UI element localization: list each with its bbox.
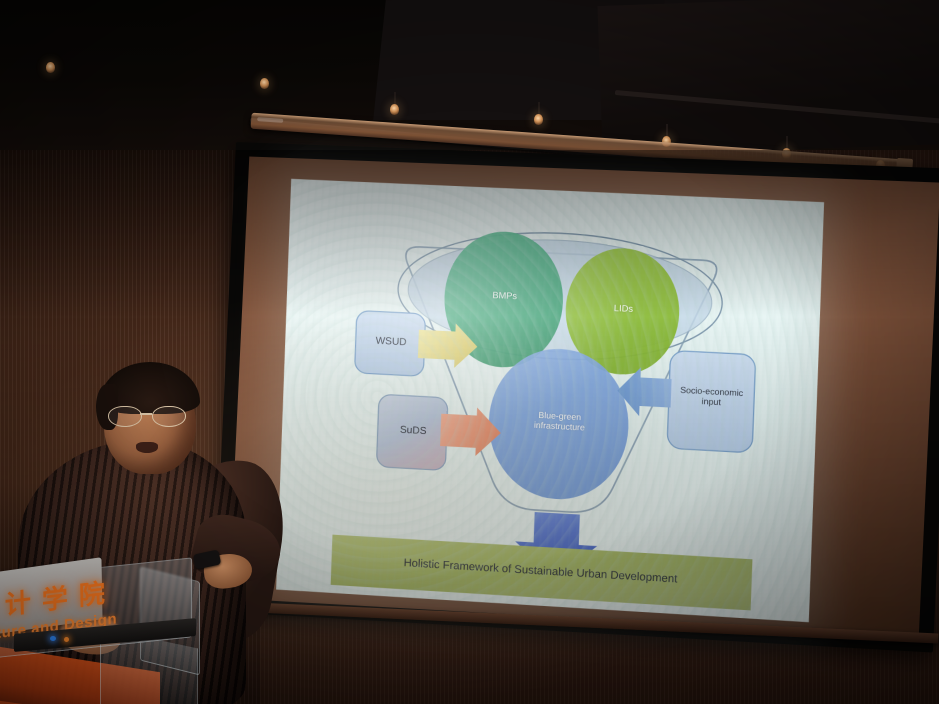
charge-led-icon	[64, 637, 69, 642]
power-led-icon	[50, 636, 56, 641]
ceiling-slab	[597, 0, 939, 156]
glasses-bridge	[140, 413, 152, 415]
glasses-icon	[108, 406, 194, 426]
spotlight-icon	[390, 104, 399, 115]
box-socio-economic	[667, 350, 756, 452]
slide-diagram	[276, 179, 824, 622]
lecture-hall-photo: BMPs LIDs Blue-green infrastructure WSUD…	[0, 0, 939, 704]
projection-screen-fabric: BMPs LIDs Blue-green infrastructure WSUD…	[228, 157, 939, 638]
projected-slide: BMPs LIDs Blue-green infrastructure WSUD…	[276, 179, 824, 622]
projection-screen-assembly: BMPs LIDs Blue-green infrastructure WSUD…	[214, 142, 935, 644]
box-wsud	[355, 310, 426, 376]
presenter-mouth	[136, 442, 158, 453]
glasses-left-lens	[108, 406, 142, 427]
box-suds	[376, 394, 448, 470]
screen-case-tab	[257, 117, 283, 123]
spotlight-icon	[46, 62, 55, 73]
spotlight-icon	[260, 78, 269, 89]
spotlight-icon	[534, 114, 543, 125]
glasses-right-lens	[152, 406, 186, 427]
projection-screen-frame: BMPs LIDs Blue-green infrastructure WSUD…	[214, 142, 939, 653]
lectern: 设计学院 itecture and Design	[0, 566, 204, 704]
